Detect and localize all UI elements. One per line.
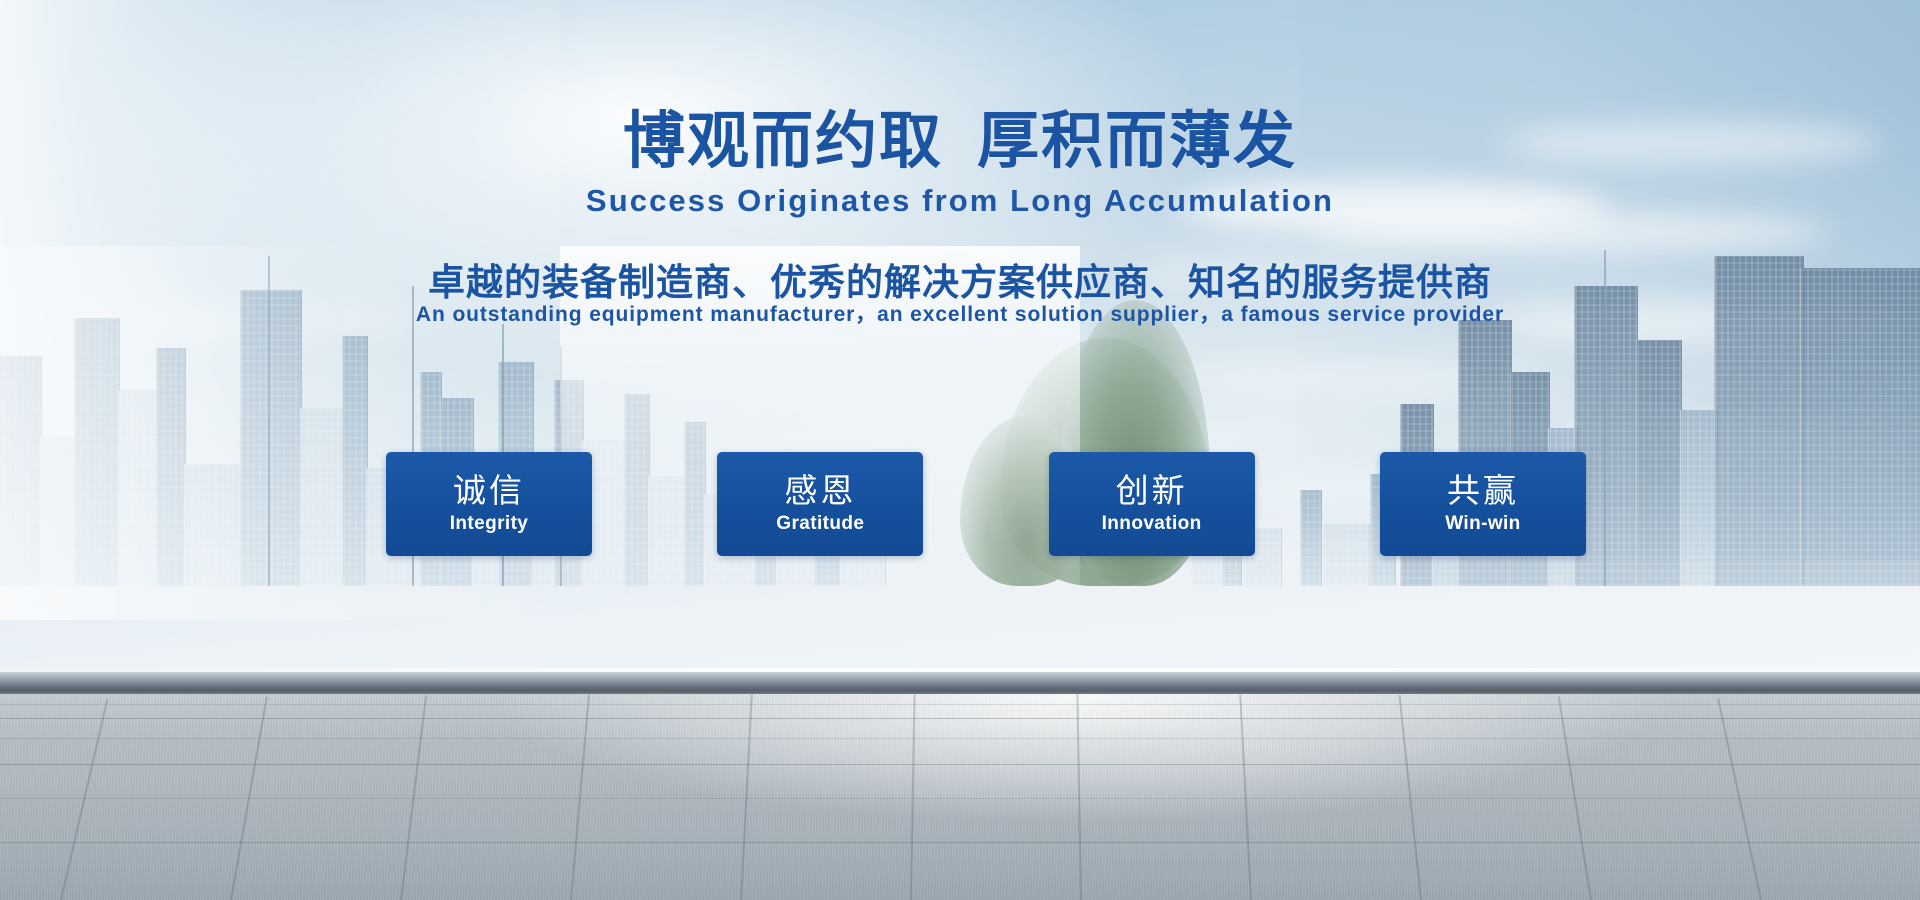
value-label-cn: 创新 [1116, 473, 1188, 509]
headline-english: Success Originates from Long Accumulatio… [0, 183, 1920, 219]
headline-chinese-part1: 博观而约取 [623, 104, 943, 177]
value-box-integrity[interactable]: 诚信 Integrity [386, 452, 592, 556]
value-label-en: Innovation [1102, 513, 1202, 535]
subline-english: An outstanding equipment manufacturer，an… [0, 298, 1920, 328]
headline-chinese-part2: 厚积而薄发 [977, 104, 1297, 177]
value-label-cn: 感恩 [784, 473, 856, 509]
headline-chinese: 博观而约取厚积而薄发 [0, 108, 1920, 175]
value-box-gratitude[interactable]: 感恩 Gratitude [717, 452, 923, 556]
value-box-winwin[interactable]: 共赢 Win-win [1380, 452, 1586, 556]
value-label-cn: 共赢 [1447, 473, 1519, 509]
value-box-innovation[interactable]: 创新 Innovation [1049, 452, 1255, 556]
hero-banner: 博观而约取厚积而薄发 Success Originates from Long … [0, 0, 1920, 900]
value-label-en: Gratitude [776, 513, 864, 535]
core-values-row: 诚信 Integrity 感恩 Gratitude 创新 Innovation … [386, 452, 1586, 556]
value-label-cn: 诚信 [453, 473, 525, 509]
pavement-texture [0, 694, 1920, 900]
value-label-en: Integrity [450, 513, 529, 535]
value-label-en: Win-win [1445, 513, 1520, 535]
plaza-pavement [0, 694, 1920, 900]
